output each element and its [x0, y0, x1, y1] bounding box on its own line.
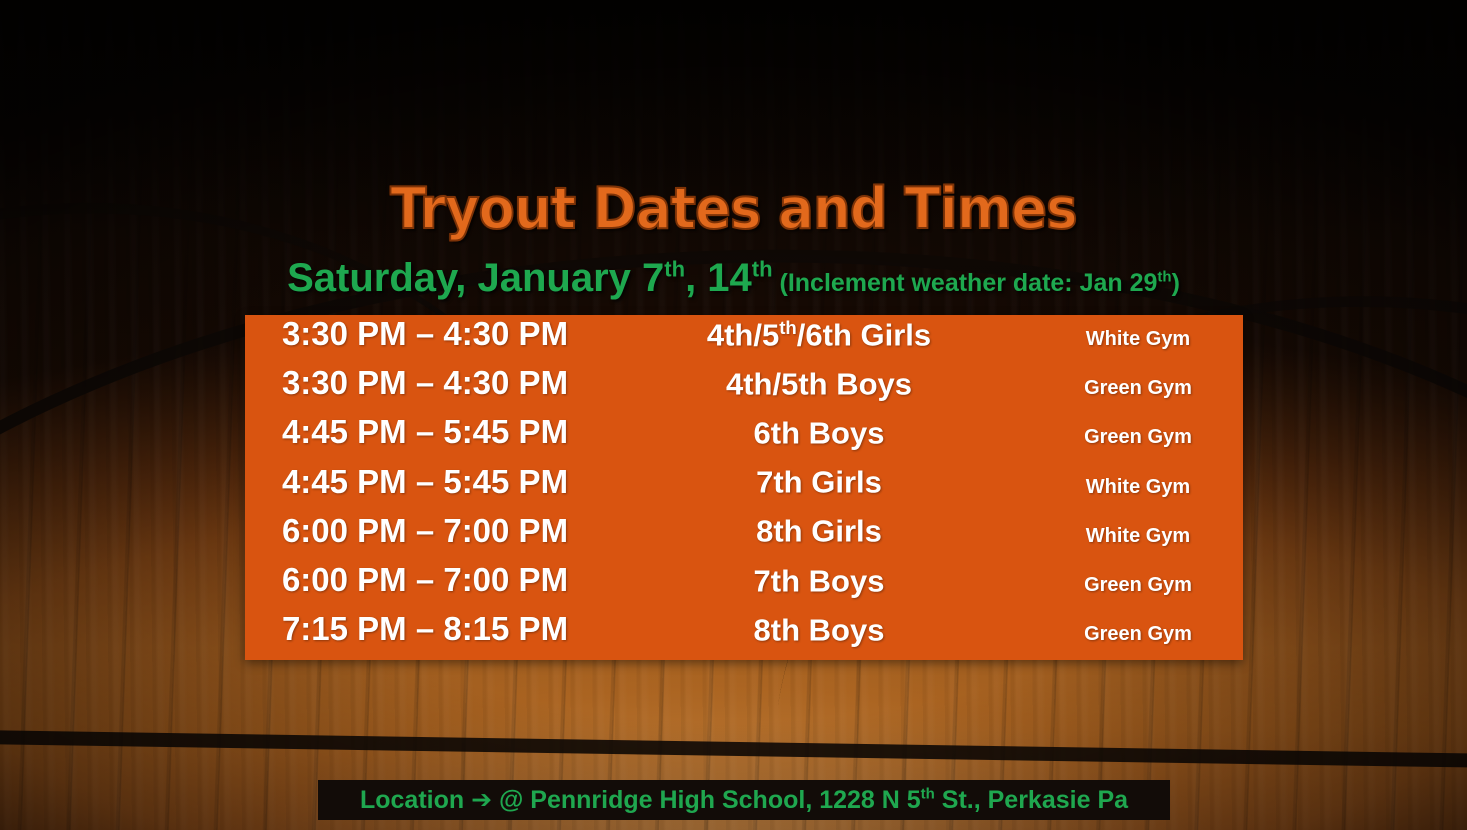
- row-group-sup: th: [779, 317, 797, 338]
- row-group-prefix: 8th Boys: [754, 612, 885, 647]
- location-address-suffix: St., Perkasie Pa: [935, 786, 1128, 814]
- page-title: Tryout Dates and Times: [51, 176, 1415, 242]
- row-group-suffix: /6th Girls: [797, 317, 931, 352]
- row-time: 3:30 PM – 4:30 PM: [245, 364, 605, 402]
- row-gym: Green Gym: [1033, 426, 1243, 449]
- subtitle-sup-14th: th: [752, 257, 773, 282]
- row-gym: Green Gym: [1033, 377, 1243, 400]
- row-gym: White Gym: [1033, 328, 1243, 351]
- subtitle-main-mid: , 14: [685, 256, 752, 300]
- row-group: 8th Boys: [605, 612, 1033, 648]
- table-row: 4:45 PM – 5:45 PM 6th Boys Green Gym: [245, 413, 1243, 462]
- row-time: 6:00 PM – 7:00 PM: [245, 512, 605, 550]
- subtitle-main-prefix: Saturday, January 7: [287, 256, 664, 300]
- row-group: 4th/5th/6th Girls: [605, 317, 1033, 353]
- row-group-prefix: 4th/5th Boys: [726, 366, 912, 401]
- row-group: 4th/5th Boys: [605, 366, 1033, 402]
- subtitle-note-suffix: ): [1172, 269, 1180, 297]
- row-group: 7th Boys: [605, 563, 1033, 599]
- subtitle-note-prefix: (Inclement weather date: Jan 29: [773, 269, 1158, 297]
- table-row: 6:00 PM – 7:00 PM 8th Girls White Gym: [245, 512, 1243, 561]
- subtitle-note-sup: th: [1157, 269, 1171, 286]
- row-group-prefix: 7th Boys: [754, 563, 885, 598]
- row-time: 3:30 PM – 4:30 PM: [245, 315, 605, 353]
- table-row: 3:30 PM – 4:30 PM 4th/5th Boys Green Gym: [245, 364, 1243, 413]
- row-group: 7th Girls: [605, 464, 1033, 500]
- row-gym: Green Gym: [1033, 623, 1243, 646]
- row-group-prefix: 4th/5: [707, 317, 779, 352]
- location-address-prefix: @ Pennridge High School, 1228 N 5: [492, 786, 921, 814]
- row-group-prefix: 6th Boys: [754, 415, 885, 450]
- row-time: 6:00 PM – 7:00 PM: [245, 561, 605, 599]
- location-label: Location: [360, 786, 471, 814]
- subtitle-note: (Inclement weather date: Jan 29th): [773, 269, 1180, 297]
- table-row: 7:15 PM – 8:15 PM 8th Boys Green Gym: [245, 610, 1243, 659]
- table-row: 3:30 PM – 4:30 PM 4th/5th/6th Girls Whit…: [245, 315, 1243, 364]
- location-text: Location ➔ @ Pennridge High School, 1228…: [360, 785, 1128, 815]
- row-group-prefix: 7th Girls: [756, 465, 882, 500]
- schedule-table: 3:30 PM – 4:30 PM 4th/5th/6th Girls Whit…: [245, 315, 1243, 660]
- row-group: 6th Boys: [605, 415, 1033, 451]
- row-group: 8th Girls: [605, 513, 1033, 549]
- subtitle-dates: Saturday, January 7th, 14th (Inclement w…: [0, 256, 1467, 301]
- row-gym: White Gym: [1033, 525, 1243, 548]
- table-row: 4:45 PM – 5:45 PM 7th Girls White Gym: [245, 463, 1243, 512]
- table-row: 6:00 PM – 7:00 PM 7th Boys Green Gym: [245, 561, 1243, 610]
- row-time: 4:45 PM – 5:45 PM: [245, 413, 605, 451]
- location-address-sup: th: [921, 786, 935, 803]
- location-bar: Location ➔ @ Pennridge High School, 1228…: [318, 780, 1170, 820]
- row-gym: Green Gym: [1033, 574, 1243, 597]
- slide-content: Tryout Dates and Times Saturday, January…: [0, 0, 1467, 830]
- row-gym: White Gym: [1033, 476, 1243, 499]
- subtitle-sup-7th: th: [664, 257, 685, 282]
- row-time: 7:15 PM – 8:15 PM: [245, 610, 605, 648]
- row-time: 4:45 PM – 5:45 PM: [245, 463, 605, 501]
- right-arrow-icon: ➔: [471, 785, 492, 814]
- row-group-prefix: 8th Girls: [756, 514, 882, 549]
